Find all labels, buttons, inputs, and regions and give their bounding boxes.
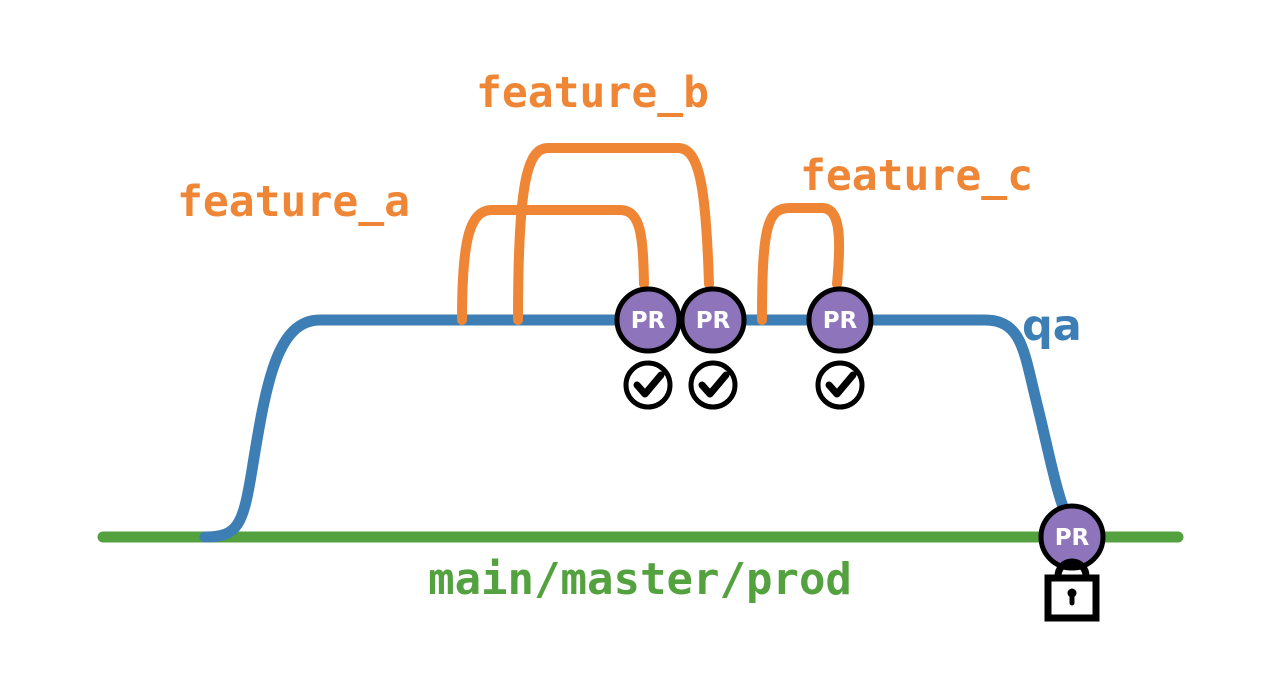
branch-line-feature-b [518,148,709,320]
git-flow-canvas: PR PR PR PR [0,0,1288,678]
git-branching-diagram: PR PR PR PR [0,0,1288,678]
branch-label-main: main/master/prod [428,554,852,605]
check-circle-feature-b [691,363,735,407]
branch-label-feature-b: feature_b [476,68,709,118]
check-badge-feature-a [626,363,670,407]
branch-line-feature-a [462,210,644,320]
pr-node-label-feature-a: PR [631,308,666,334]
check-circle-feature-a [626,363,670,407]
pr-node-feature-b[interactable]: PR [682,289,744,351]
branch-line-qa [205,320,1072,537]
check-badge-feature-b [691,363,735,407]
pr-node-label-feature-c: PR [823,308,858,334]
branch-label-feature-a: feature_a [177,177,410,227]
branch-label-feature-c: feature_c [800,151,1033,201]
pr-node-feature-c[interactable]: PR [809,289,871,351]
branch-label-qa: qa [1022,301,1082,351]
check-circle-feature-c [818,363,862,407]
pr-node-label-qa-to-main: PR [1055,525,1090,551]
pr-node-feature-a[interactable]: PR [617,289,679,351]
check-badge-feature-c [818,363,862,407]
pr-node-label-feature-b: PR [696,308,731,334]
